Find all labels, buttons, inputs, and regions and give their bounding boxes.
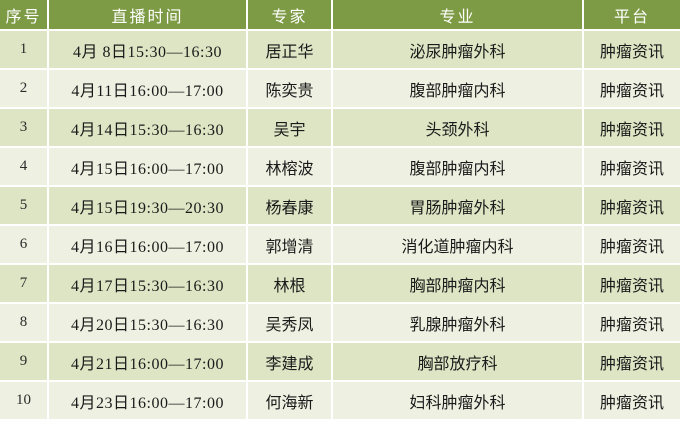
cell-expert: 林榕波 bbox=[247, 147, 332, 186]
column-header-seq: 序号 bbox=[0, 0, 48, 30]
cell-platform: 肿瘤资讯 bbox=[583, 381, 680, 420]
column-header-major: 专业 bbox=[332, 0, 583, 30]
cell-time: 4月20日15:30—16:30 bbox=[48, 303, 247, 342]
table-body: 14月 8日15:30—16:30居正华泌尿肿瘤外科肿瘤资讯24月11日16:0… bbox=[0, 30, 680, 420]
cell-seq: 8 bbox=[0, 303, 48, 342]
cell-major: 头颈外科 bbox=[332, 108, 583, 147]
table-row: 44月15日16:00—17:00林榕波腹部肿瘤内科肿瘤资讯 bbox=[0, 147, 680, 186]
cell-platform: 肿瘤资讯 bbox=[583, 30, 680, 69]
cell-seq: 2 bbox=[0, 69, 48, 108]
cell-time: 4月14日15:30—16:30 bbox=[48, 108, 247, 147]
cell-expert: 何海新 bbox=[247, 381, 332, 420]
cell-time: 4月11日16:00—17:00 bbox=[48, 69, 247, 108]
table-row: 104月23日16:00—17:00何海新妇科肿瘤外科肿瘤资讯 bbox=[0, 381, 680, 420]
cell-time: 4月17日15:30—16:30 bbox=[48, 264, 247, 303]
cell-time: 4月15日16:00—17:00 bbox=[48, 147, 247, 186]
cell-platform: 肿瘤资讯 bbox=[583, 264, 680, 303]
table-header-row: 序号 直播时间 专家 专业 平台 bbox=[0, 0, 680, 30]
cell-seq: 4 bbox=[0, 147, 48, 186]
cell-platform: 肿瘤资讯 bbox=[583, 108, 680, 147]
table-row: 74月17日15:30—16:30林根胸部肿瘤内科肿瘤资讯 bbox=[0, 264, 680, 303]
cell-major: 消化道肿瘤内科 bbox=[332, 225, 583, 264]
cell-seq: 1 bbox=[0, 30, 48, 69]
cell-platform: 肿瘤资讯 bbox=[583, 303, 680, 342]
table-row: 94月21日16:00—17:00李建成胸部放疗科肿瘤资讯 bbox=[0, 342, 680, 381]
cell-seq: 5 bbox=[0, 186, 48, 225]
cell-major: 妇科肿瘤外科 bbox=[332, 381, 583, 420]
table-row: 64月16日16:00—17:00郭增清消化道肿瘤内科肿瘤资讯 bbox=[0, 225, 680, 264]
cell-expert: 吴宇 bbox=[247, 108, 332, 147]
cell-expert: 居正华 bbox=[247, 30, 332, 69]
cell-seq: 10 bbox=[0, 381, 48, 420]
cell-time: 4月23日16:00—17:00 bbox=[48, 381, 247, 420]
cell-time: 4月15日19:30—20:30 bbox=[48, 186, 247, 225]
column-header-time: 直播时间 bbox=[48, 0, 247, 30]
table-row: 54月15日19:30—20:30杨春康胃肠肿瘤外科肿瘤资讯 bbox=[0, 186, 680, 225]
table-row: 24月11日16:00—17:00陈奕贵腹部肿瘤内科肿瘤资讯 bbox=[0, 69, 680, 108]
column-header-platform: 平台 bbox=[583, 0, 680, 30]
cell-major: 胃肠肿瘤外科 bbox=[332, 186, 583, 225]
cell-major: 腹部肿瘤内科 bbox=[332, 147, 583, 186]
cell-expert: 吴秀凤 bbox=[247, 303, 332, 342]
cell-expert: 李建成 bbox=[247, 342, 332, 381]
column-header-expert: 专家 bbox=[247, 0, 332, 30]
cell-time: 4月21日16:00—17:00 bbox=[48, 342, 247, 381]
cell-seq: 9 bbox=[0, 342, 48, 381]
table-row: 14月 8日15:30—16:30居正华泌尿肿瘤外科肿瘤资讯 bbox=[0, 30, 680, 69]
cell-time: 4月16日16:00—17:00 bbox=[48, 225, 247, 264]
table-row: 84月20日15:30—16:30吴秀凤乳腺肿瘤外科肿瘤资讯 bbox=[0, 303, 680, 342]
cell-major: 胸部放疗科 bbox=[332, 342, 583, 381]
cell-major: 泌尿肿瘤外科 bbox=[332, 30, 583, 69]
cell-platform: 肿瘤资讯 bbox=[583, 186, 680, 225]
cell-major: 乳腺肿瘤外科 bbox=[332, 303, 583, 342]
cell-platform: 肿瘤资讯 bbox=[583, 147, 680, 186]
cell-seq: 6 bbox=[0, 225, 48, 264]
cell-seq: 7 bbox=[0, 264, 48, 303]
cell-platform: 肿瘤资讯 bbox=[583, 342, 680, 381]
cell-major: 胸部肿瘤内科 bbox=[332, 264, 583, 303]
cell-expert: 陈奕贵 bbox=[247, 69, 332, 108]
cell-expert: 杨春康 bbox=[247, 186, 332, 225]
table-row: 34月14日15:30—16:30吴宇头颈外科肿瘤资讯 bbox=[0, 108, 680, 147]
cell-time: 4月 8日15:30—16:30 bbox=[48, 30, 247, 69]
cell-major: 腹部肿瘤内科 bbox=[332, 69, 583, 108]
cell-seq: 3 bbox=[0, 108, 48, 147]
cell-platform: 肿瘤资讯 bbox=[583, 225, 680, 264]
cell-expert: 郭增清 bbox=[247, 225, 332, 264]
table-header: 序号 直播时间 专家 专业 平台 bbox=[0, 0, 680, 30]
cell-platform: 肿瘤资讯 bbox=[583, 69, 680, 108]
live-schedule-table: 序号 直播时间 专家 专业 平台 14月 8日15:30—16:30居正华泌尿肿… bbox=[0, 0, 680, 421]
cell-expert: 林根 bbox=[247, 264, 332, 303]
